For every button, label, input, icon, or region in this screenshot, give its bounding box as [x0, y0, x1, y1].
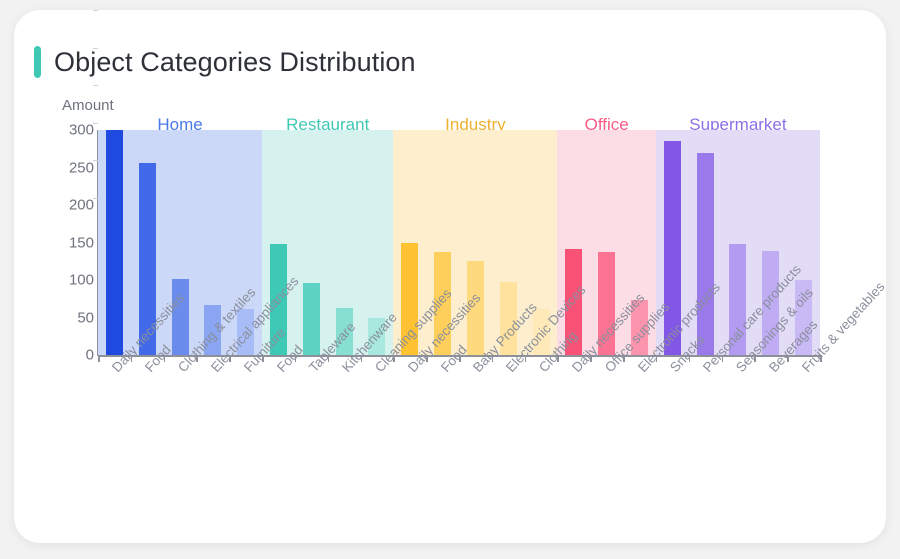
- y-gridline: [93, 198, 98, 199]
- y-tick-50: 50: [54, 309, 94, 326]
- y-gridline: [93, 85, 98, 86]
- y-axis-tick-labels: 050100150200250300: [50, 130, 94, 355]
- bar[interactable]: [303, 283, 320, 355]
- y-tick-150: 150: [54, 234, 94, 251]
- chart-card: Object Categories Distribution Amount Ho…: [14, 10, 886, 543]
- bar[interactable]: [106, 130, 123, 355]
- y-gridline: [93, 123, 98, 124]
- y-tick-100: 100: [54, 272, 94, 289]
- y-tick-200: 200: [54, 197, 94, 214]
- y-axis-label: Amount: [62, 97, 114, 114]
- y-tick-250: 250: [54, 159, 94, 176]
- y-tick-0: 0: [54, 347, 94, 364]
- bar[interactable]: [697, 153, 714, 356]
- y-gridline: [93, 10, 98, 11]
- bar[interactable]: [172, 279, 189, 355]
- chart-area: Amount HomeRestaurantIndustryOfficeSuper…: [14, 10, 886, 543]
- y-gridline: [93, 160, 98, 161]
- y-tick-300: 300: [54, 122, 94, 139]
- x-tick: [98, 355, 100, 362]
- y-gridline: [93, 48, 98, 49]
